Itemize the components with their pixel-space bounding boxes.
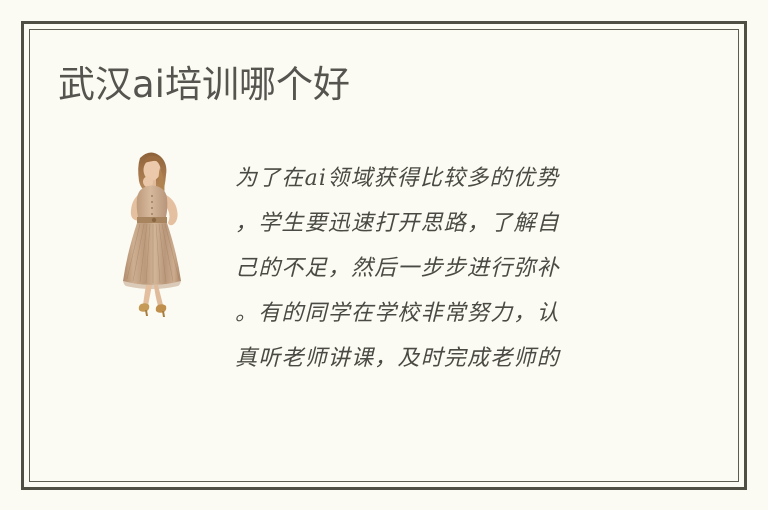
body-line: 为了在ai领域获得比较多的优势 — [235, 156, 641, 201]
body-paragraph: 为了在ai领域获得比较多的优势 ，学生要迅速打开思路，了解自 己的不足，然后一步… — [235, 156, 641, 381]
body-line: 己的不足，然后一步步进行弥补 — [235, 246, 641, 291]
woman-in-pleated-dress-illustration — [96, 144, 206, 324]
page-title: 武汉ai培训哪个好 — [58, 62, 350, 108]
body-line: ，学生要迅速打开思路，了解自 — [235, 201, 641, 246]
content-area: 为了在ai领域获得比较多的优势 ，学生要迅速打开思路，了解自 己的不足，然后一步… — [58, 140, 658, 420]
body-line: 真听老师讲课，及时完成老师的 — [235, 336, 641, 381]
poster-canvas: 武汉ai培训哪个好 — [0, 0, 768, 510]
body-line: 。有的同学在学校非常努力，认 — [235, 291, 641, 336]
